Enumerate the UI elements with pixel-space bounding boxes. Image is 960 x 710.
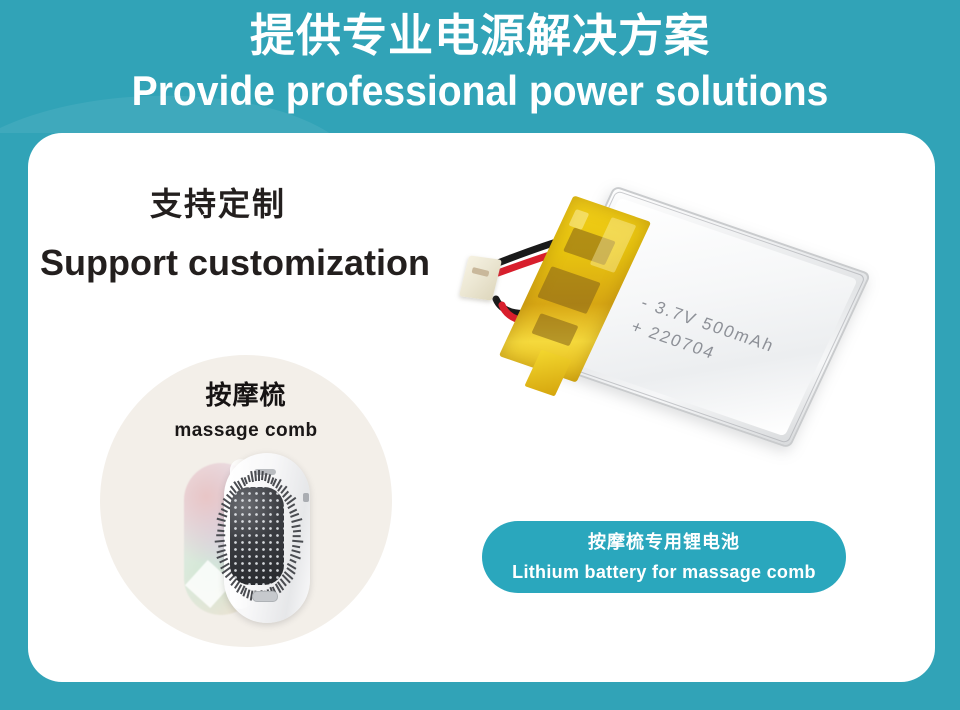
comb-pad-dots xyxy=(230,487,284,585)
battery-caption-pill: 按摩梳专用锂电池 Lithium battery for massage com… xyxy=(482,521,846,593)
comb-side-indicator xyxy=(303,493,309,502)
comb-bristle xyxy=(221,509,228,514)
support-title-english: Support customization xyxy=(40,241,430,285)
headline-english: Provide professional power solutions xyxy=(34,66,927,116)
content-card: 支持定制 Support customization 按摩梳 massage c… xyxy=(28,133,935,682)
comb-label-english: massage comb xyxy=(100,419,392,443)
comb-power-button xyxy=(252,591,278,602)
comb-bristle xyxy=(218,545,226,548)
header-banner: 提供专业电源解决方案 Provide professional power so… xyxy=(0,0,960,133)
pill-title-chinese: 按摩梳专用锂电池 xyxy=(482,531,846,555)
headline-chinese: 提供专业电源解决方案 xyxy=(0,10,960,62)
battery-pcb-shape xyxy=(531,313,578,346)
comb-bristle xyxy=(215,540,225,542)
lithium-battery-photo: - 3.7V 500mAh + 220704 xyxy=(458,211,928,481)
comb-bristle xyxy=(218,530,226,532)
comb-label-chinese: 按摩梳 xyxy=(100,380,392,412)
massage-comb-icon xyxy=(178,451,338,626)
promo-banner-page: 提供专业电源解决方案 Provide professional power so… xyxy=(0,0,960,710)
comb-bristle xyxy=(258,470,260,481)
support-title-chinese: 支持定制 xyxy=(150,185,286,223)
battery-tape-glint xyxy=(568,209,589,230)
pill-title-english: Lithium battery for massage comb xyxy=(482,561,846,583)
comb-bristle xyxy=(293,535,301,537)
comb-brush-pad xyxy=(230,487,284,585)
battery-pcb-shape xyxy=(537,266,601,314)
